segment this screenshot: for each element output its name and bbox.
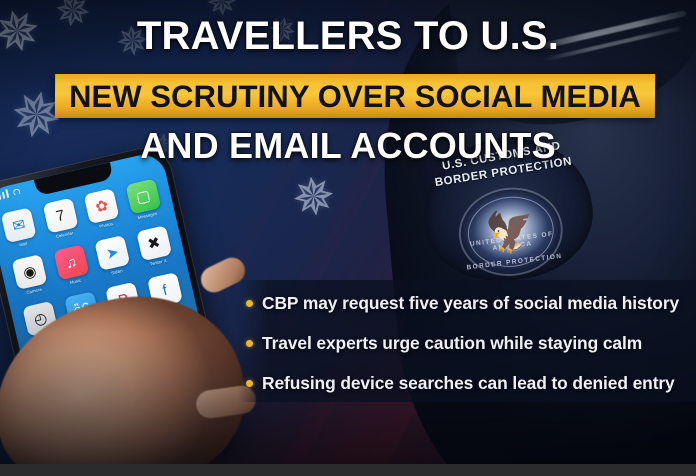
vignette-overlay	[0, 0, 696, 476]
headline-block: TRAVELLERS TO U.S.	[0, 14, 696, 58]
bullet-text: Refusing device searches can lead to den…	[262, 373, 675, 394]
bullet-text: CBP may request five years of social med…	[262, 293, 679, 314]
news-graphic-canvas: ✵ ✵ ✵ ✵ ✵ ✵ ✵ ✵ ✵ ✵ U.S. CUSTOMS AND BOR…	[0, 0, 696, 476]
bullet-item: Refusing device searches can lead to den…	[246, 363, 690, 403]
bullet-text: Travel experts urge caution while stayin…	[262, 333, 642, 354]
bullet-item: CBP may request five years of social med…	[246, 283, 690, 323]
bullet-list: CBP may request five years of social med…	[246, 283, 690, 403]
bullet-item: Travel experts urge caution while stayin…	[246, 323, 690, 363]
headline-banner: NEW SCRUTINY OVER SOCIAL MEDIA	[55, 74, 655, 118]
bottom-bar	[0, 464, 696, 476]
headline-line-3: AND EMAIL ACCOUNTS	[0, 126, 696, 166]
headline-block-3: AND EMAIL ACCOUNTS	[0, 122, 696, 166]
headline-line-1: TRAVELLERS TO U.S.	[0, 14, 696, 58]
headline-line-2: NEW SCRUTINY OVER SOCIAL MEDIA	[69, 81, 641, 112]
bullet-dot-icon	[246, 340, 253, 347]
bullet-dot-icon	[246, 300, 253, 307]
bullet-dot-icon	[246, 380, 253, 387]
